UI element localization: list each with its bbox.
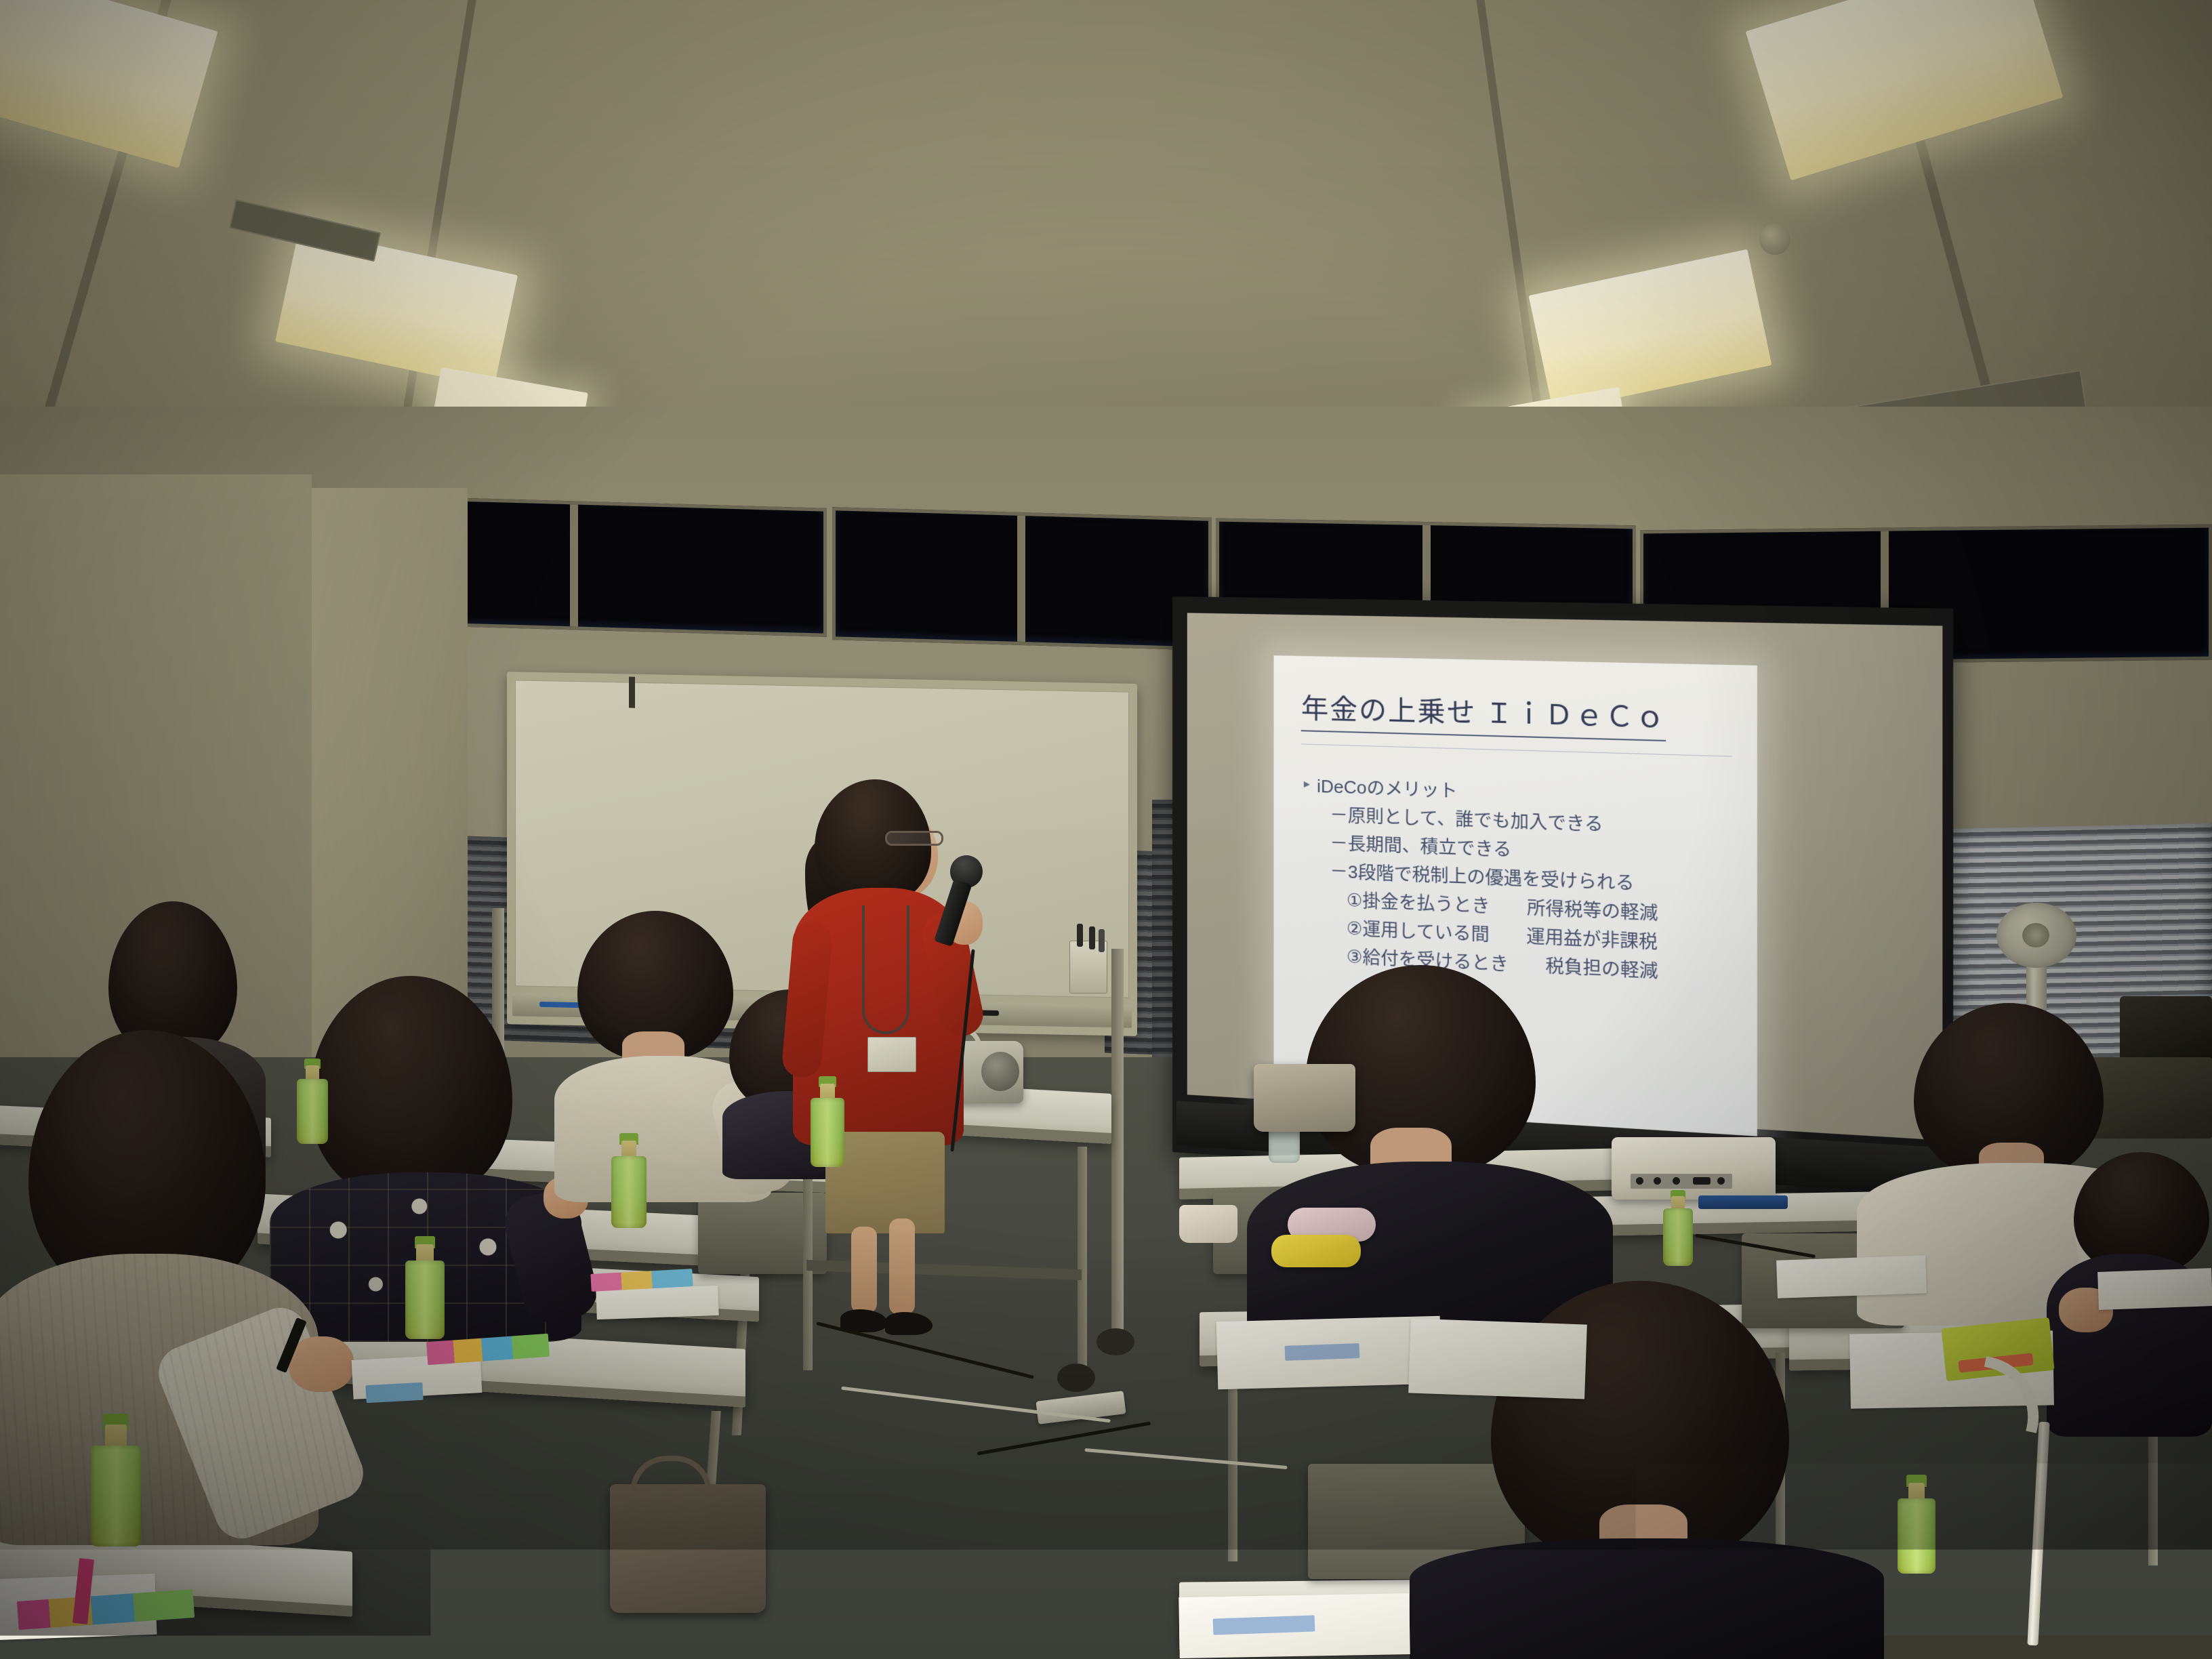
clerestory-window — [447, 497, 827, 637]
pen-holder — [1069, 941, 1107, 994]
projector — [1612, 1137, 1776, 1200]
beverage-bottle — [811, 1076, 844, 1167]
fan-hub-icon — [2022, 923, 2049, 947]
projector-cables — [1698, 1195, 1788, 1209]
handout-paper — [596, 1286, 718, 1319]
beverage-bottle — [297, 1059, 328, 1144]
photo-canvas: 年金の上乗せ ＩｉＤｅＣｏ ▸ iDeCoのメリット －原則として、誰でも加入で… — [0, 0, 2212, 1659]
triangle-bullet-icon: ▸ — [1304, 772, 1310, 796]
umbrella — [1979, 1362, 2060, 1647]
umbrella-hook — [1973, 1356, 2050, 1433]
cup — [1179, 1205, 1237, 1243]
pencil-case — [1271, 1235, 1361, 1267]
handout-paper — [1408, 1318, 1587, 1399]
whiteboard-caster — [1097, 1328, 1134, 1355]
pen-icon — [1077, 924, 1083, 947]
lanyard — [862, 905, 909, 1034]
handbag — [1254, 1064, 1355, 1132]
slide-divider — [1301, 743, 1732, 756]
beverage-bottle — [405, 1236, 445, 1339]
beverage-bottle — [611, 1133, 647, 1228]
slide-title: 年金の上乗せ ＩｉＤｅＣｏ — [1301, 686, 1666, 741]
leg — [889, 1218, 915, 1315]
slide-body: ▸ iDeCoのメリット －原則として、誰でも加入できる －長期間、積立できる … — [1301, 772, 1732, 990]
desk-leg — [1078, 1147, 1087, 1384]
handbag — [610, 1484, 766, 1613]
desk-caster — [1057, 1364, 1095, 1392]
handout-colored — [1285, 1343, 1360, 1361]
beverage-bottle — [91, 1414, 141, 1547]
leg — [851, 1227, 877, 1313]
hand — [289, 1336, 354, 1392]
glasses-icon — [885, 831, 943, 846]
handout-paper — [2097, 1268, 2212, 1310]
whiteboard-stand-leg — [1111, 949, 1124, 1342]
torso — [1410, 1538, 1884, 1659]
projector-ports — [1631, 1174, 1732, 1189]
pen-icon — [1089, 926, 1095, 949]
pen-icon — [1099, 929, 1105, 952]
clerestory-window — [832, 507, 1212, 651]
whiteboard-hanger — [629, 677, 635, 708]
pedestal-fan — [1996, 903, 2076, 968]
smoke-detector-icon — [1759, 224, 1790, 255]
handout-paper — [1776, 1255, 1927, 1298]
beverage-bottle — [1663, 1190, 1693, 1266]
slide-bullet-level1-text: iDeCoのメリット — [1317, 773, 1458, 806]
presenter — [786, 779, 1010, 1267]
name-badge — [867, 1037, 916, 1072]
handout-colored — [365, 1382, 423, 1403]
beverage-bottle — [1898, 1475, 1935, 1574]
umbrella-shaft — [2027, 1422, 2049, 1645]
